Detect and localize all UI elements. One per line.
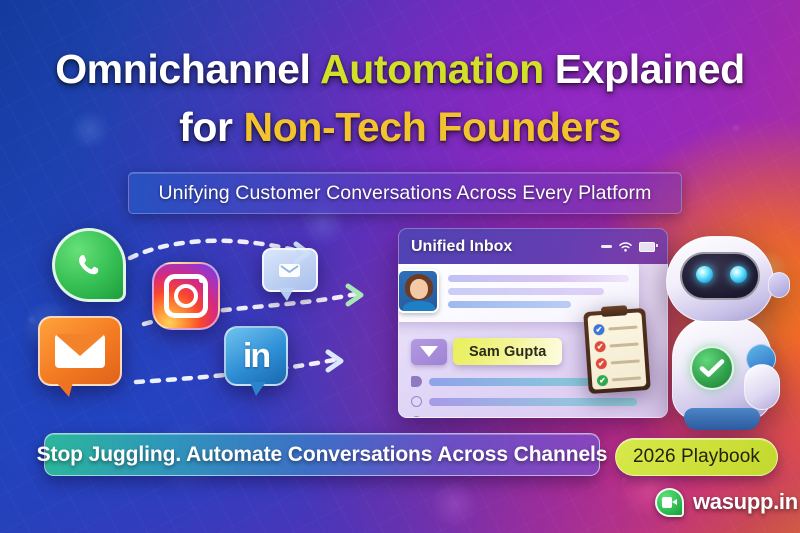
channel-icon-linkedin[interactable]: in xyxy=(224,326,290,394)
placeholder-line xyxy=(448,301,571,308)
contact-name-row[interactable]: Sam Gupta xyxy=(411,338,562,365)
checklist-line xyxy=(612,377,641,382)
list-item[interactable] xyxy=(411,416,647,418)
contact-placeholder-lines xyxy=(448,275,629,308)
check-glyph xyxy=(699,358,725,378)
channel-icon-email[interactable] xyxy=(38,316,124,398)
whatsapp-icon xyxy=(52,228,126,302)
check-icon-blue: ✔ xyxy=(593,324,605,336)
clipboard-board: ✔ ✔ ✔ ✔ xyxy=(583,308,651,394)
chevron-down-icon[interactable] xyxy=(411,339,447,365)
robot-base xyxy=(684,408,760,430)
subtitle-bar: Unifying Customer Conversations Across E… xyxy=(128,172,682,214)
clipboard-clamp xyxy=(601,305,628,317)
robot-visor xyxy=(680,252,760,300)
chat-lines-glyph xyxy=(276,260,304,280)
checklist-line xyxy=(608,326,637,331)
headline-line-1: Omnichannel Automation Explained xyxy=(0,44,800,94)
checklist-item: ✔ xyxy=(594,338,639,352)
placeholder-line xyxy=(429,398,637,406)
headline-text-2a: for xyxy=(179,104,243,150)
linkedin-label: in xyxy=(243,337,269,376)
channel-icon-whatsapp[interactable] xyxy=(52,228,128,308)
email-envelope-icon xyxy=(38,316,122,386)
linkedin-icon: in xyxy=(224,326,288,386)
send-icon xyxy=(411,376,422,387)
chat-bubble-icon xyxy=(262,248,318,292)
avatar-body xyxy=(403,301,435,313)
channel-icon-instagram[interactable] xyxy=(152,262,222,332)
instagram-icon xyxy=(152,262,220,330)
headline-text-1b: Explained xyxy=(544,46,745,92)
instagram-dot xyxy=(199,278,204,283)
robot-eye-right xyxy=(730,266,747,283)
minimize-icon[interactable] xyxy=(601,245,612,248)
headline-accent-nontech: Non-Tech Founders xyxy=(244,104,621,150)
inbox-title: Unified Inbox xyxy=(411,238,601,256)
avatar-face xyxy=(410,279,428,299)
phone-glyph xyxy=(70,246,108,284)
placeholder-line xyxy=(448,275,629,282)
headline-text-1a: Omnichannel xyxy=(55,46,320,92)
status-circle-icon xyxy=(411,416,422,418)
headline-line-2: for Non-Tech Founders xyxy=(0,102,800,152)
promo-poster: Omnichannel Automation Explained for Non… xyxy=(0,0,800,533)
wifi-icon xyxy=(619,242,632,252)
whatsapp-video-bubble-icon xyxy=(655,488,684,517)
instagram-ring xyxy=(164,274,208,318)
green-check-icon xyxy=(690,346,734,390)
headline-block: Omnichannel Automation Explained for Non… xyxy=(0,44,800,152)
brand-logo[interactable]: wasupp.in xyxy=(655,487,798,517)
checklist-item: ✔ xyxy=(595,355,640,369)
clipboard-page: ✔ ✔ ✔ ✔ xyxy=(587,312,646,390)
checklist-item: ✔ xyxy=(593,322,638,336)
avatar xyxy=(398,269,439,313)
instagram-lens xyxy=(174,284,198,308)
checklist-line xyxy=(611,360,640,365)
headline-accent-automation: Automation xyxy=(320,46,544,92)
placeholder-line xyxy=(429,418,604,419)
robot-ear xyxy=(768,272,790,298)
channel-icon-chat[interactable] xyxy=(262,248,320,306)
brand-name: wasupp.in xyxy=(693,489,798,515)
list-item[interactable] xyxy=(411,396,647,407)
inbox-header: Unified Inbox xyxy=(398,228,668,264)
badge-label: 2026 Playbook xyxy=(633,446,760,468)
inbox-window-controls[interactable] xyxy=(601,242,655,252)
check-icon-green: ✔ xyxy=(597,375,609,387)
status-circle-icon xyxy=(411,396,422,407)
contact-name-label: Sam Gupta xyxy=(469,344,546,360)
status-badge: 2026 Playbook xyxy=(615,438,778,476)
cta-banner[interactable]: Stop Juggling. Automate Conversations Ac… xyxy=(44,433,600,476)
robot-arm xyxy=(744,364,780,410)
check-icon-red: ✔ xyxy=(594,341,606,353)
video-camera-glyph xyxy=(662,497,677,508)
chevron-glyph xyxy=(420,346,438,357)
checklist-line xyxy=(610,343,639,348)
subtitle-text: Unifying Customer Conversations Across E… xyxy=(159,182,652,205)
placeholder-line xyxy=(448,288,604,295)
ai-robot-mascot xyxy=(648,232,798,432)
clipboard-checklist-icon: ✔ ✔ ✔ ✔ xyxy=(583,308,651,394)
cta-text: Stop Juggling. Automate Conversations Ac… xyxy=(37,443,608,467)
envelope-glyph xyxy=(55,334,105,368)
contact-name-pill[interactable]: Sam Gupta xyxy=(453,338,562,365)
robot-eye-left xyxy=(696,266,713,283)
check-icon-red: ✔ xyxy=(595,358,607,370)
checklist-item: ✔ xyxy=(597,372,642,386)
